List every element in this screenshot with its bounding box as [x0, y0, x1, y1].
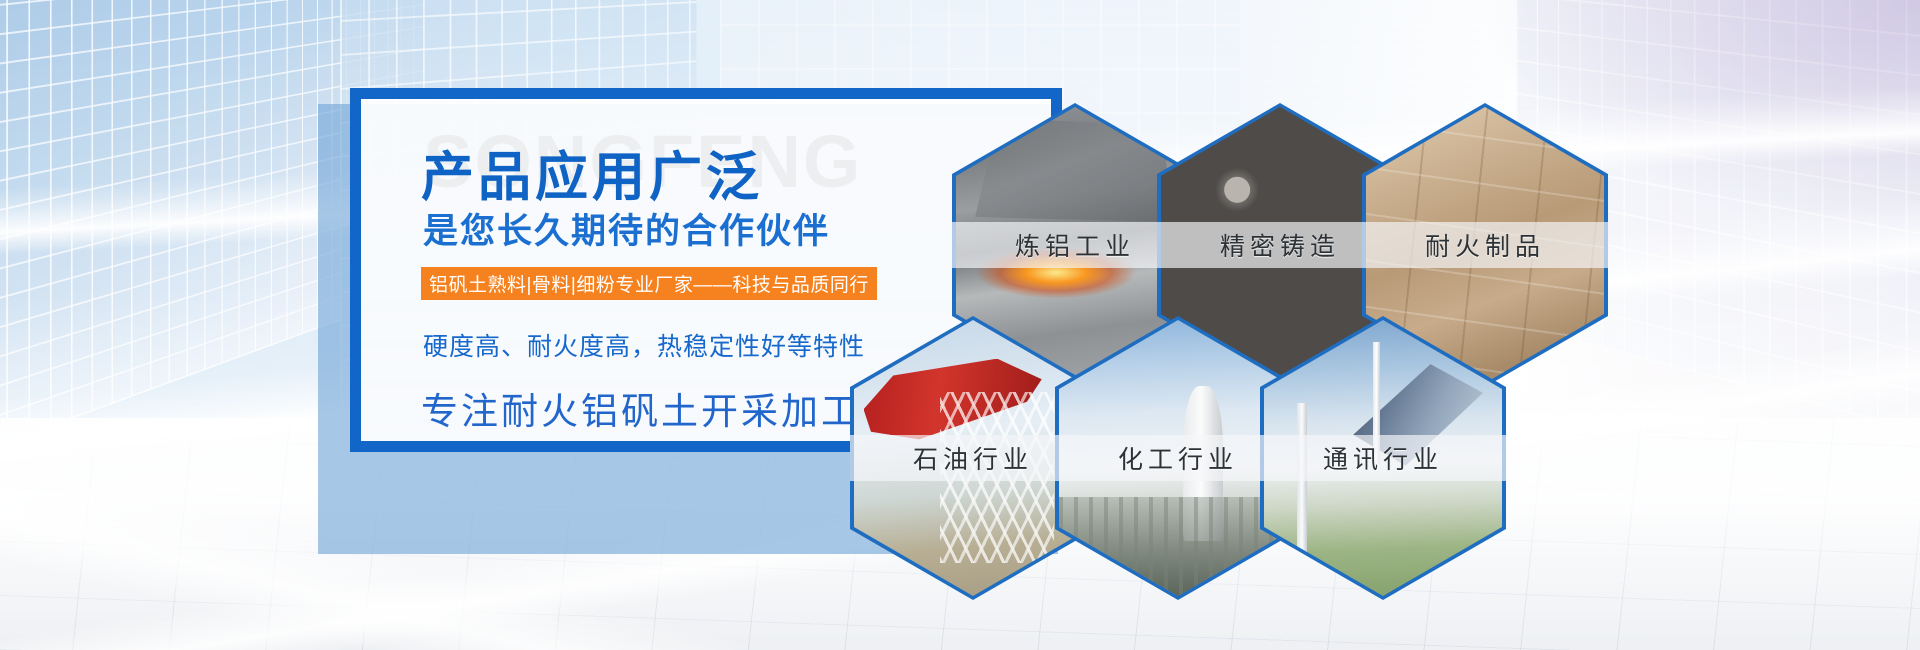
- hex-label-text: 炼铝工业: [1015, 227, 1135, 263]
- hex-label-bar: 耐火制品: [1362, 222, 1608, 268]
- hexagon-grid: 炼铝工业 精密铸造 耐火制品 石油行业: [0, 0, 1920, 650]
- hex-label-text: 石油行业: [913, 440, 1033, 476]
- hero-banner: SONGFENG 产品应用广泛 是您长久期待的合作伙伴 铝矾土熟料|骨料|细粉专…: [0, 0, 1920, 650]
- hex-label-text: 通讯行业: [1323, 440, 1443, 476]
- hex-label-text: 耐火制品: [1425, 227, 1545, 263]
- hex-label-text: 精密铸造: [1220, 227, 1340, 263]
- hex-tile-telecom-industry[interactable]: 通讯行业: [1260, 316, 1506, 600]
- hex-label-bar: 通讯行业: [1260, 435, 1506, 481]
- hex-label-text: 化工行业: [1118, 440, 1238, 476]
